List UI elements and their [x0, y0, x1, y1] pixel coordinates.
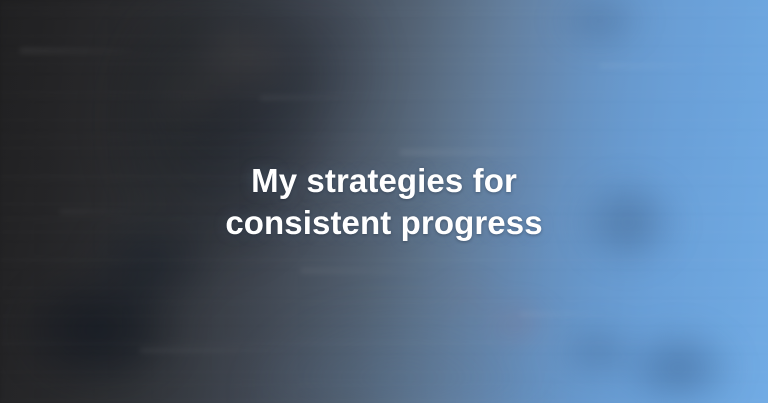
hero-banner: My strategies for consistent progress [0, 0, 768, 403]
page-title: My strategies for consistent progress [214, 160, 554, 243]
hero-content: My strategies for consistent progress [0, 0, 768, 403]
